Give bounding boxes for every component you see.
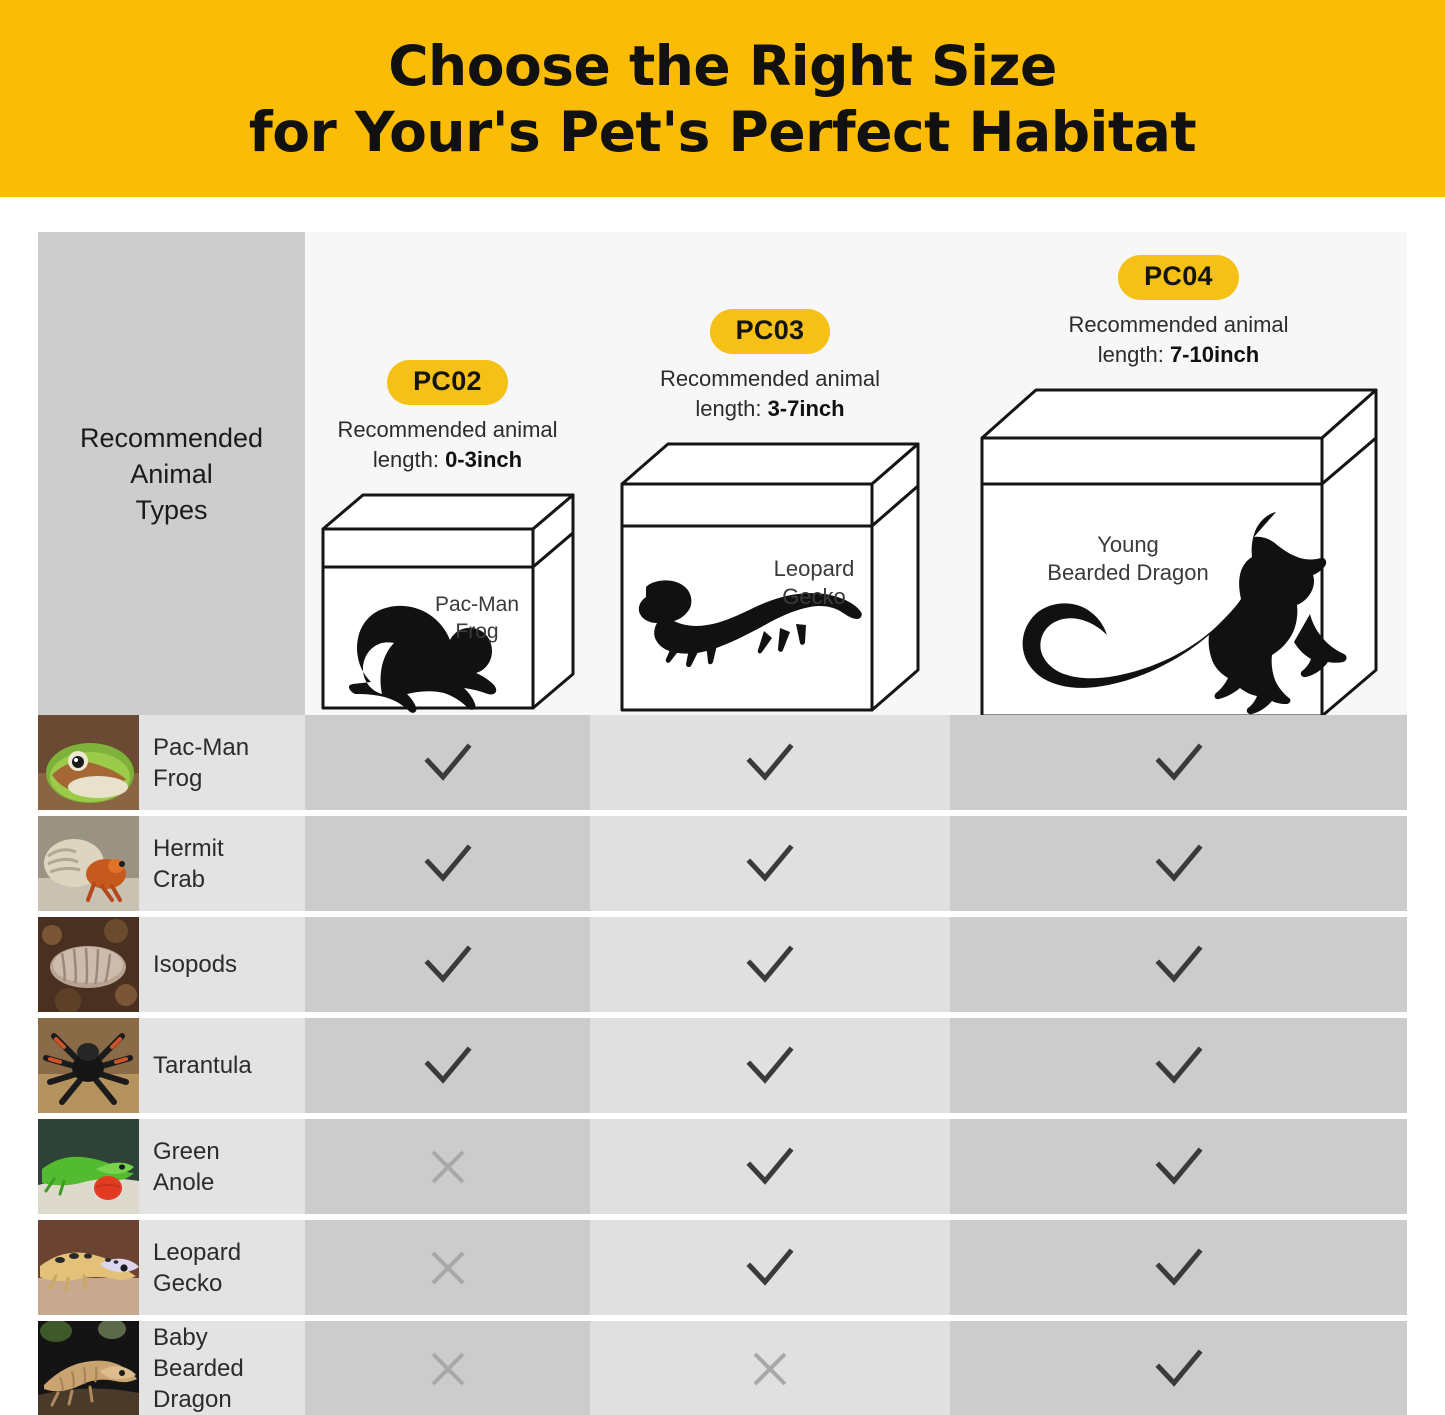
green-anole-photo [38, 1119, 139, 1214]
check-icon [744, 1246, 796, 1290]
rec-prefix-pc03: Recommended animal [660, 366, 880, 391]
row-label-cell: LeopardGecko [38, 1220, 305, 1315]
check-icon [1153, 741, 1205, 785]
rec-prefix-pc02: Recommended animal [337, 417, 557, 442]
cell-green-anole-photo-col1[interactable] [305, 1119, 590, 1214]
row-label-cell: Baby BeardedDragon [38, 1321, 305, 1415]
cross-mark [426, 1246, 470, 1290]
cell-tarantula-photo-col1[interactable] [305, 1018, 590, 1113]
tank-label-pc03-line1: Leopard [774, 556, 855, 581]
cell-hermit-crab-photo-col3[interactable] [950, 816, 1407, 911]
rec-prefix-pc04: Recommended animal [1068, 312, 1288, 337]
row-name-line-1: Hermit [153, 835, 224, 862]
cell-pac-man-frog-photo-col1[interactable] [305, 715, 590, 810]
infographic-page: Choose the Right Size for Your's Pet's P… [0, 0, 1445, 1415]
banner-title-line-1: Choose the Right Size [388, 33, 1057, 99]
row-animal-name: Baby BeardedDragon [153, 1322, 305, 1415]
cell-pac-man-frog-photo-col2[interactable] [590, 715, 950, 810]
row-label-cell: HermitCrab [38, 816, 305, 911]
types-line-2: Animal [130, 459, 213, 489]
tank-svg-pc04: Young Bearded Dragon [976, 384, 1382, 722]
table-row: Pac-ManFrog [38, 715, 1407, 810]
row-name-line-1: Tarantula [153, 1052, 252, 1079]
banner-title-line-2: for Your's Pet's Perfect Habitat [249, 99, 1196, 165]
rec-label-pc03: length: [695, 396, 767, 421]
check-icon [1153, 1145, 1205, 1189]
row-name-line-1: Baby Bearded [153, 1324, 244, 1382]
tarantula-photo [38, 1018, 139, 1113]
tank-label-pc04-line1: Young [1097, 532, 1159, 557]
check-mark [1153, 842, 1205, 886]
row-label-cell: Isopods [38, 917, 305, 1012]
check-mark [422, 943, 474, 987]
cell-baby-bearded-dragon-photo-col1[interactable] [305, 1321, 590, 1415]
row-animal-name: HermitCrab [153, 833, 224, 895]
cell-green-anole-photo-col2[interactable] [590, 1119, 950, 1214]
check-icon [422, 943, 474, 987]
cell-baby-bearded-dragon-photo-col3[interactable] [950, 1321, 1407, 1415]
check-icon [422, 1044, 474, 1088]
cross-mark [426, 1347, 470, 1391]
row-name-line-1: Leopard [153, 1239, 241, 1266]
recommended-animal-types-label: Recommended Animal Types [80, 420, 263, 528]
check-icon [1153, 1044, 1205, 1088]
row-animal-name: Isopods [153, 949, 237, 980]
check-icon [744, 1044, 796, 1088]
tank-illustration-pc02: Pac-Man Frog [317, 489, 579, 714]
table-row: GreenAnole [38, 1119, 1407, 1214]
row-name-line-1: Green [153, 1138, 220, 1165]
row-label-cell: Tarantula [38, 1018, 305, 1113]
row-label-cell: Pac-ManFrog [38, 715, 305, 810]
baby-bearded-dragon-photo [38, 1321, 139, 1415]
product-badge-pc04: PC04 [1118, 255, 1239, 300]
tank-illustration-pc03: Leopard Gecko [616, 438, 924, 716]
check-icon [744, 741, 796, 785]
row-animal-name: LeopardGecko [153, 1237, 241, 1299]
cross-icon [426, 1246, 470, 1290]
check-icon [744, 842, 796, 886]
check-mark [744, 1044, 796, 1088]
table-row: Baby BeardedDragon [38, 1321, 1407, 1415]
product-recommendation-pc03: Recommended animal length: 3-7inch [660, 364, 880, 424]
check-mark [1153, 1246, 1205, 1290]
row-label-cell: GreenAnole [38, 1119, 305, 1214]
isopods-photo [38, 917, 139, 1012]
row-animal-name: Tarantula [153, 1050, 252, 1081]
check-mark [1153, 1145, 1205, 1189]
product-badge-pc02: PC02 [387, 360, 508, 405]
cell-leopard-gecko-photo-col1[interactable] [305, 1220, 590, 1315]
leopard-gecko-photo [38, 1220, 139, 1315]
cross-icon [426, 1347, 470, 1391]
check-icon [1153, 1347, 1205, 1391]
check-mark [744, 842, 796, 886]
cell-hermit-crab-photo-col1[interactable] [305, 816, 590, 911]
tank-label-pc04-line2: Bearded Dragon [1047, 560, 1208, 585]
pac-man-frog-photo [38, 715, 139, 810]
table-row: Isopods [38, 917, 1407, 1012]
recommended-animal-types-header: Recommended Animal Types [38, 232, 305, 715]
row-name-line-2: Dragon [153, 1386, 232, 1413]
rec-value-pc03: 3-7inch [768, 396, 845, 421]
title-banner: Choose the Right Size for Your's Pet's P… [0, 0, 1445, 197]
tank-svg-pc03: Leopard Gecko [616, 438, 924, 716]
check-mark [1153, 943, 1205, 987]
types-line-3: Types [135, 495, 207, 525]
check-mark [1153, 741, 1205, 785]
check-icon [744, 1145, 796, 1189]
cell-baby-bearded-dragon-photo-col2[interactable] [590, 1321, 950, 1415]
cell-tarantula-photo-col3[interactable] [950, 1018, 1407, 1113]
row-name-line-2: Crab [153, 866, 205, 893]
check-icon [422, 842, 474, 886]
tank-svg-pc02: Pac-Man Frog [317, 489, 579, 714]
row-name-line-1: Isopods [153, 951, 237, 978]
check-icon [1153, 842, 1205, 886]
check-mark [1153, 1347, 1205, 1391]
product-recommendation-pc02: Recommended animal length: 0-3inch [337, 415, 557, 475]
cell-green-anole-photo-col3[interactable] [950, 1119, 1407, 1214]
check-icon [1153, 943, 1205, 987]
table-row: LeopardGecko [38, 1220, 1407, 1315]
rec-label-pc02: length: [373, 447, 445, 472]
check-mark [1153, 1044, 1205, 1088]
cell-hermit-crab-photo-col2[interactable] [590, 816, 950, 911]
cell-tarantula-photo-col2[interactable] [590, 1018, 950, 1113]
comparison-header-band: Recommended Animal Types PC02 Recommende… [38, 232, 1407, 715]
table-row: Tarantula [38, 1018, 1407, 1113]
check-mark [744, 943, 796, 987]
product-header-pc02: PC02 Recommended animal length: 0-3inch [305, 360, 590, 714]
check-mark [744, 741, 796, 785]
row-name-line-1: Pac-Man [153, 734, 249, 761]
product-badge-pc03: PC03 [710, 309, 831, 354]
hermit-crab-photo [38, 816, 139, 911]
cell-leopard-gecko-photo-col3[interactable] [950, 1220, 1407, 1315]
row-name-line-2: Anole [153, 1169, 214, 1196]
types-line-1: Recommended [80, 423, 263, 453]
product-header-pc04: PC04 Recommended animal length: 7-10inch [950, 255, 1407, 722]
rec-value-pc02: 0-3inch [445, 447, 522, 472]
cross-mark [748, 1347, 792, 1391]
check-mark [422, 1044, 474, 1088]
row-animal-name: GreenAnole [153, 1136, 220, 1198]
tank-label-pc02-line1: Pac-Man [434, 593, 518, 616]
cross-mark [426, 1145, 470, 1189]
check-icon [1153, 1246, 1205, 1290]
row-animal-name: Pac-ManFrog [153, 732, 249, 794]
cell-leopard-gecko-photo-col2[interactable] [590, 1220, 950, 1315]
table-row: HermitCrab [38, 816, 1407, 911]
check-mark [744, 1246, 796, 1290]
cross-icon [748, 1347, 792, 1391]
check-mark [422, 842, 474, 886]
cell-pac-man-frog-photo-col3[interactable] [950, 715, 1407, 810]
product-header-pc03: PC03 Recommended animal length: 3-7inch [590, 309, 950, 716]
check-icon [744, 943, 796, 987]
tank-label-pc03-line2: Gecko [782, 584, 846, 609]
cell-isopods-photo-col3[interactable] [950, 917, 1407, 1012]
rec-value-pc04: 7-10inch [1170, 342, 1259, 367]
product-recommendation-pc04: Recommended animal length: 7-10inch [1068, 310, 1288, 370]
cell-isopods-photo-col2[interactable] [590, 917, 950, 1012]
tank-illustration-pc04: Young Bearded Dragon [976, 384, 1382, 722]
check-mark [744, 1145, 796, 1189]
cross-icon [426, 1145, 470, 1189]
row-name-line-2: Gecko [153, 1270, 222, 1297]
rec-label-pc04: length: [1098, 342, 1170, 367]
cell-isopods-photo-col1[interactable] [305, 917, 590, 1012]
row-name-line-2: Frog [153, 765, 202, 792]
tank-label-pc02-line2: Frog [455, 620, 498, 643]
check-mark [422, 741, 474, 785]
check-icon [422, 741, 474, 785]
